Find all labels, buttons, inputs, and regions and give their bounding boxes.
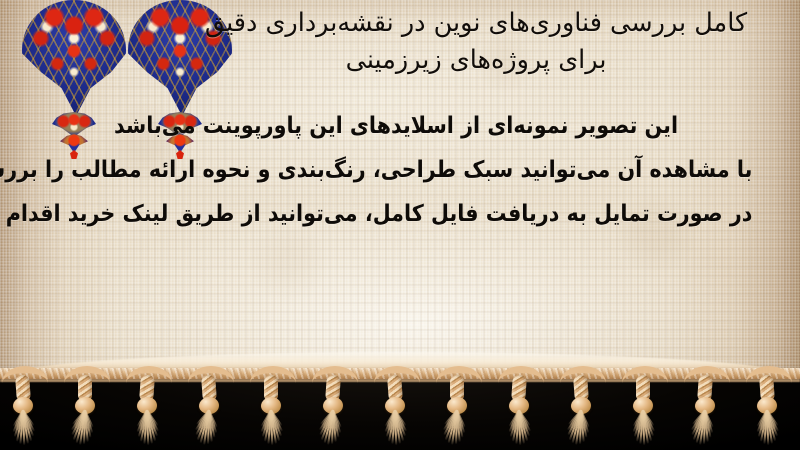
slide-title-line-1: کامل بررسی فناوری‌های نوین در نقشه‌بردار… [176, 5, 776, 42]
medallion-body-icon [22, 0, 126, 116]
fringe-strand-brush [316, 410, 356, 450]
fringe-strand-brush [564, 410, 604, 450]
fringe-strand-brush [688, 410, 728, 450]
fringe-tassel [312, 366, 358, 450]
fringe-strand-brush [750, 410, 790, 450]
slide-canvas: کامل بررسی فناوری‌های نوین در نقشه‌بردار… [0, 0, 800, 450]
fringe-tassel [436, 366, 482, 450]
fringe-tassel [188, 366, 234, 450]
slide-title-line-2: برای پروژه‌های زیرزمینی [176, 42, 776, 79]
fringe-strand-brush [192, 410, 232, 450]
slide-title: کامل بررسی فناوری‌های نوین در نقشه‌بردار… [176, 5, 776, 79]
fringe-strand-brush [440, 410, 480, 450]
slide-body-line-1: این تصویر نمونه‌ای از اسلایدهای این پاور… [40, 104, 753, 148]
fringe-strand-brush [626, 410, 666, 450]
slide-body-line-2: با مشاهده آن می‌توانید سبک طراحی، رنگ‌بن… [40, 148, 753, 192]
fringe-tassel [498, 366, 544, 450]
slide-body-text: این تصویر نمونه‌ای از اسلایدهای این پاور… [0, 104, 792, 236]
fringe-strand-brush [378, 410, 418, 450]
fringe-tassel [250, 366, 296, 450]
fringe-tassel [2, 366, 48, 450]
fringe-strand-brush [130, 410, 170, 450]
fringe-tassel [126, 366, 172, 450]
fringe-tassel [64, 366, 110, 450]
fringe-tassel [374, 366, 420, 450]
fringe-strand-brush [254, 410, 294, 450]
fringe-strand-brush [6, 410, 46, 450]
fringe-tassel [622, 366, 668, 450]
fringe-tassel [560, 366, 606, 450]
slide-body-line-3: در صورت تمایل به دریافت فایل کامل، می‌تو… [40, 192, 753, 236]
fringe-tassel [684, 366, 730, 450]
fringe-strand-brush [68, 410, 108, 450]
fringe-tassel [746, 366, 792, 450]
carpet-fringe [0, 366, 800, 450]
fringe-strand-brush [502, 410, 542, 450]
